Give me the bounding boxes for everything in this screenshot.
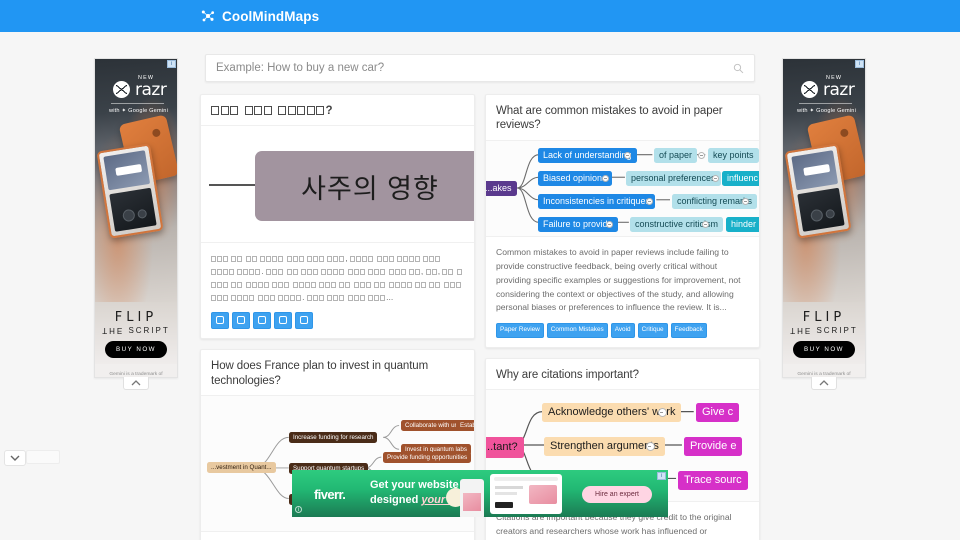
ad-tagline-script: SCRIPT (816, 326, 857, 335)
tag-chip[interactable]: Common Mistakes (547, 323, 608, 337)
ad-tagline-line1: FLIP (788, 310, 860, 325)
mindmap-leaf-node[interactable]: of paper (654, 148, 697, 163)
tofu-word (348, 265, 366, 278)
ad-tagline-line2: THE SCRIPT (788, 326, 860, 335)
ad-tagline-the: THE (102, 326, 124, 335)
ad-creative[interactable]: i NEW razr with ✦ Google Gemini (783, 59, 865, 377)
tofu-word (293, 278, 317, 291)
motorola-logo-icon (113, 81, 130, 98)
ad-divider (111, 103, 164, 104)
tofu-word (246, 278, 270, 291)
phone-camera-icon (137, 209, 147, 219)
tofu-word (457, 265, 463, 278)
mindmap-leaf-node[interactable]: key points (708, 148, 759, 163)
tofu-word (354, 278, 372, 291)
ad-rail-left: i NEW razr with ✦ Google Gemini (94, 58, 178, 378)
tofu-word: , (327, 252, 347, 265)
tofu-title-run (211, 104, 240, 118)
adchoices-icon[interactable]: i (167, 60, 176, 68)
phone-screen (103, 150, 150, 190)
ad-hero-image: NEW razr with ✦ Google Gemini (95, 59, 177, 302)
bottom-banner-ad[interactable]: fiverr. Get your website designed your w… (292, 470, 668, 517)
banner-browser-mockup (490, 474, 562, 514)
tofu-word (307, 252, 325, 265)
tag-chip[interactable]: Feedback (671, 323, 707, 337)
ad-creative[interactable]: i NEW razr with ✦ Google Gemini (95, 59, 177, 377)
tofu-word (258, 291, 276, 304)
phone-camera-icon (122, 209, 136, 223)
mindmap-leaf-node[interactable]: Give c (696, 403, 739, 422)
ad-divider (799, 103, 852, 104)
ad-collapse-handle[interactable] (811, 377, 837, 390)
ad-rail-right: i NEW razr with ✦ Google Gemini (782, 58, 866, 378)
tag-row (201, 312, 474, 338)
tofu-word (397, 252, 421, 265)
app-header: CoolMindMaps (0, 0, 960, 32)
mindmap-leaf-node[interactable]: Trace sourc (678, 471, 748, 490)
tofu-word (444, 278, 462, 291)
tofu-word (307, 291, 325, 304)
ad-tagline: FLIP THE SCRIPT BUY NOW (783, 302, 865, 364)
phone-camera-icon (825, 209, 835, 219)
tag-chip[interactable] (232, 312, 250, 329)
mindmap-leaf-node[interactable]: Provide e (684, 437, 742, 456)
adchoices-icon[interactable]: i (855, 60, 864, 68)
tag-chip[interactable]: Critique (638, 323, 668, 337)
card-paper-reviews[interactable]: What are common mistakes to avoid in pap… (485, 94, 760, 348)
phone-lower-screen (797, 188, 844, 232)
chevron-up-icon (131, 380, 141, 386)
mindmap-leaf-node[interactable]: Establish resear (456, 420, 474, 431)
fiverr-logo: fiverr. (314, 487, 345, 502)
chevron-down-icon (10, 455, 20, 461)
mindmap-network-icon (200, 8, 216, 24)
tag-chip[interactable] (211, 312, 229, 329)
ad-tagline-line1: FLIP (100, 310, 172, 325)
browser-text-line (495, 486, 523, 489)
tofu-word (231, 278, 243, 291)
ad-product-name: razr (135, 80, 166, 100)
tofu-word (211, 291, 229, 304)
card-description: France has recently announced its plan t… (201, 532, 474, 540)
tofu-word (350, 252, 374, 265)
tofu-word (442, 265, 454, 278)
ad-info-icon[interactable]: i (295, 506, 302, 513)
card-description: Common mistakes to avoid in paper review… (486, 237, 759, 324)
mindmap-root-node[interactable]: ...tant? (486, 437, 524, 458)
collapse-toggle-icon[interactable] (624, 152, 631, 159)
mindmap-root-node: 사주의 영향 (255, 151, 474, 221)
mindmap-preview[interactable]: 사주의 영향 (201, 125, 474, 243)
adchoices-icon[interactable]: i (657, 472, 666, 480)
ad-tagline-the: THE (790, 326, 812, 335)
browser-text-line (495, 492, 517, 495)
tofu-word (368, 265, 386, 278)
collapse-toggle-icon[interactable] (606, 221, 613, 228)
ad-disclaimer: Gemini is a trademark of Google LLC. Gem… (95, 364, 177, 377)
tag-chip[interactable]: Avoid (611, 323, 635, 337)
phone-notification-chip (803, 164, 830, 176)
mindmap-leaf-node[interactable]: hinder (726, 217, 759, 232)
mindmap-connector (209, 184, 257, 186)
mindmap-root-node[interactable]: ...akes (486, 181, 517, 196)
tofu-word (319, 278, 337, 291)
mindmap-root-node[interactable]: ...vestment in Quant... (207, 462, 276, 473)
ad-subtitle: with ✦ Google Gemini (109, 108, 168, 114)
left-edge-collapse-handle[interactable] (4, 450, 26, 466)
mindmap-leaf-node[interactable]: personal preferences (626, 171, 721, 186)
banner-headline-line1: Get your website (370, 479, 459, 491)
buy-now-button[interactable]: BUY NOW (793, 341, 855, 358)
tofu-word (287, 252, 305, 265)
tag-chip[interactable]: Paper Review (496, 323, 544, 337)
collapse-toggle-icon[interactable] (702, 221, 709, 228)
mindmap-leaf-node[interactable]: Provide funding opportunities (383, 452, 471, 463)
ad-subtitle: with ✦ Google Gemini (797, 108, 856, 114)
ad-disclaimer: Gemini is a trademark of Google LLC. Gem… (783, 364, 865, 377)
ad-hero-image: NEW razr with ✦ Google Gemini (783, 59, 865, 302)
card-title: What are common mistakes to avoid in pap… (486, 95, 759, 140)
tofu-word (415, 278, 427, 291)
phone-lower-screen (109, 188, 156, 232)
browser-address-bar (494, 477, 558, 481)
tag-chip[interactable] (295, 312, 313, 329)
brand-name: CoolMindMaps (222, 9, 319, 24)
tofu-word (287, 265, 299, 278)
collapse-toggle-icon[interactable] (742, 198, 749, 205)
tofu-word (231, 291, 255, 304)
card-title: How does France plan to invest in quantu… (201, 350, 474, 395)
phone-camera-icon (810, 209, 824, 223)
collapse-toggle-icon[interactable] (602, 175, 609, 182)
tofu-word (339, 278, 351, 291)
collapse-toggle-icon[interactable] (712, 175, 719, 182)
left-edge-panel (26, 450, 60, 464)
motorola-logo-icon (801, 81, 818, 98)
tofu-word (374, 278, 386, 291)
tag-row: Paper Review Common Mistakes Avoid Criti… (486, 323, 759, 346)
page-body: ? 사주의 영향 , . , , . ... (0, 32, 960, 540)
collapse-toggle-icon[interactable] (698, 152, 705, 159)
tofu-word: , (409, 265, 423, 278)
mindmap-leaf-node[interactable]: influenc (722, 171, 759, 186)
search-input[interactable] (216, 62, 733, 74)
tag-chip[interactable] (253, 312, 271, 329)
mindmap-root-label: 사주의 영향 (301, 167, 439, 206)
mindmap-branch-node[interactable]: Biased opinions (538, 171, 612, 186)
tag-chip[interactable] (274, 312, 292, 329)
tofu-word (266, 265, 284, 278)
tofu-word (211, 265, 235, 278)
phone-screen (791, 150, 838, 190)
tofu-word (211, 252, 229, 265)
mindmap-branch-node[interactable]: Lack of understanding (538, 148, 637, 163)
browser-image-block (529, 485, 557, 504)
phone-notification-chip (115, 164, 142, 176)
card-description: , . , , . ... (201, 243, 474, 312)
tofu-word (348, 291, 366, 304)
mindmap-branch-node[interactable]: Increase funding for research (289, 432, 377, 443)
ad-collapse-handle[interactable] (123, 377, 149, 390)
tofu-word: , (426, 265, 440, 278)
tofu-word (260, 252, 284, 265)
tofu-word: . (278, 291, 304, 304)
ad-tagline: FLIP THE SCRIPT BUY NOW (95, 302, 177, 364)
ad-tagline-script: SCRIPT (128, 326, 169, 335)
buy-now-button[interactable]: BUY NOW (105, 341, 167, 358)
hire-an-expert-button[interactable]: Hire an expert (582, 486, 652, 503)
tofu-word (423, 252, 441, 265)
mindmap-preview[interactable]: ...akes Lack of understanding of paper k… (486, 140, 759, 237)
tofu-word (389, 265, 407, 278)
tofu-word: . (237, 265, 263, 278)
chevron-up-icon (819, 380, 829, 386)
tofu-word (231, 252, 243, 265)
banner-phone-mockup (460, 479, 484, 517)
tofu-word (301, 265, 319, 278)
tofu-word (327, 291, 345, 304)
card-title: Why are citations important? (486, 359, 759, 389)
tofu-word (272, 278, 290, 291)
banner-headline-designed: designed (370, 494, 421, 506)
mindmap-leaf-node[interactable]: constructive criticism (630, 217, 723, 232)
card-korean-saju[interactable]: ? 사주의 영향 , . , , . ... (200, 94, 475, 339)
mindmap-branch-node[interactable]: Inconsistencies in critiques (538, 194, 655, 209)
tofu-word: ... (368, 291, 393, 304)
search-icon[interactable] (733, 63, 744, 74)
brand-logo[interactable]: CoolMindMaps (200, 8, 319, 24)
ad-product-name: razr (823, 80, 854, 100)
tofu-word (429, 278, 441, 291)
tofu-word (246, 252, 258, 265)
browser-button-block (495, 502, 513, 508)
search-bar[interactable] (205, 54, 755, 82)
ad-tagline-line2: THE SCRIPT (100, 326, 172, 335)
card-title: ? (201, 95, 474, 125)
tofu-word (389, 278, 413, 291)
tofu-word (377, 252, 395, 265)
tofu-word (211, 278, 229, 291)
collapse-toggle-icon[interactable] (646, 198, 653, 205)
tofu-word (321, 265, 345, 278)
